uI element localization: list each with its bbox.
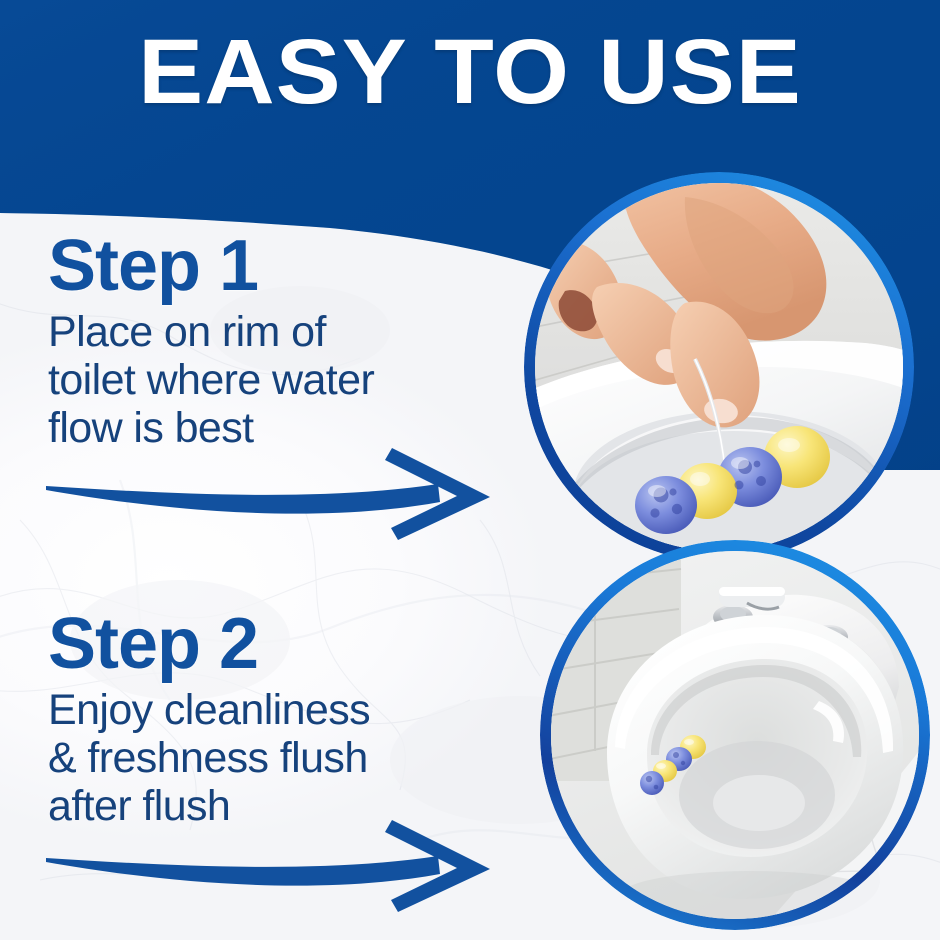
step-1-photo-circle: [524, 172, 914, 562]
step-2-heading: Step 2: [48, 608, 478, 680]
step-1-body: Place on rim of toilet where water flow …: [48, 308, 478, 452]
page-title: EASY TO USE: [0, 26, 940, 118]
toilet-bowl-with-gel-beads-photo: [551, 551, 919, 919]
step-2-body-line-3: after flush: [48, 782, 478, 830]
step-1-heading: Step 1: [48, 230, 478, 302]
hand-placing-clip-on-toilet-rim-photo: [535, 183, 903, 551]
step-2-body-line-2: & freshness flush: [48, 734, 478, 782]
step-1-photo-frame: [535, 183, 903, 551]
infographic-canvas: EASY TO USE Step 1 Place on rim of toile…: [0, 0, 940, 940]
step-1-body-line-1: Place on rim of: [48, 308, 478, 356]
step-2-photo-frame: [551, 551, 919, 919]
step-1-text-block: Step 1 Place on rim of toilet where wate…: [48, 230, 478, 452]
step-2-photo-circle: [540, 540, 930, 930]
step-1-body-line-2: toilet where water: [48, 356, 478, 404]
step-2-text-block: Step 2 Enjoy cleanliness & freshness flu…: [48, 608, 478, 830]
step-1-body-line-3: flow is best: [48, 404, 478, 452]
step-2-body-line-1: Enjoy cleanliness: [48, 686, 478, 734]
step-2-body: Enjoy cleanliness & freshness flush afte…: [48, 686, 478, 830]
